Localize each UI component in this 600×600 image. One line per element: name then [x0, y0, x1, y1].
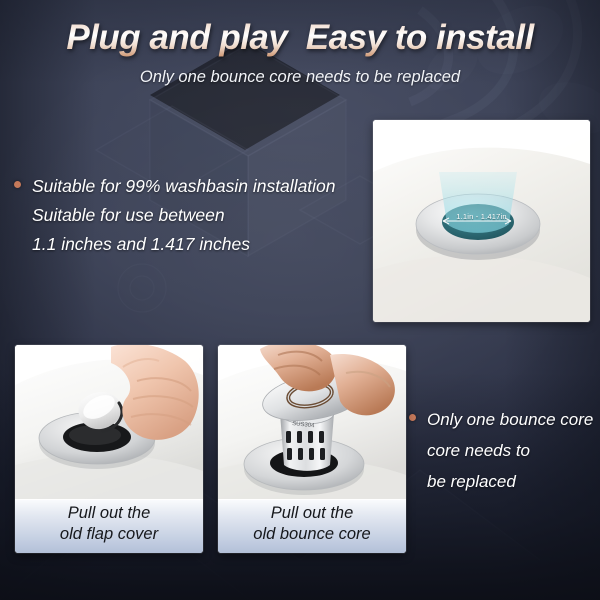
- caption-line: Pull out the: [15, 503, 203, 524]
- replacement-bullet-text: Only one bounce core core needs to be re…: [427, 404, 593, 497]
- infographic-canvas: Plug and play Easy to install Only one b…: [0, 0, 600, 600]
- pull-bounce-core-photo: SUS304 Pull out the old bounce core: [218, 345, 406, 553]
- caption-line: old bounce core: [218, 524, 406, 545]
- header: Plug and play Easy to install Only one b…: [0, 0, 600, 87]
- compatibility-bullet-text: Suitable for 99% washbasin installation …: [32, 172, 336, 259]
- caption-line: Pull out the: [218, 503, 406, 524]
- bullet-line: be replaced: [427, 466, 593, 497]
- pull-flap-cover-photo: Pull out the old flap cover: [15, 345, 203, 553]
- replacement-bullet: Only one bounce core core needs to be re…: [409, 404, 593, 497]
- washbasin-drain-photo: 1.1in - 1.417in: [373, 120, 590, 322]
- bullet-dot-icon: [14, 181, 21, 188]
- bounce-core-image: SUS304: [218, 345, 406, 503]
- page-subtitle: Only one bounce core needs to be replace…: [0, 57, 600, 87]
- flap-cover-image: [15, 345, 203, 503]
- bounce-core-caption: Pull out the old bounce core: [218, 499, 406, 553]
- caption-line: old flap cover: [15, 524, 203, 545]
- bullet-line: core needs to: [427, 435, 593, 466]
- compatibility-bullet: Suitable for 99% washbasin installation …: [14, 172, 336, 259]
- bullet-line: Suitable for use between: [32, 201, 336, 230]
- drain-measurement-label: 1.1in - 1.417in: [373, 212, 590, 221]
- flap-cover-caption: Pull out the old flap cover: [15, 499, 203, 553]
- bullet-dot-icon: [409, 414, 416, 421]
- bullet-line: 1.1 inches and 1.417 inches: [32, 230, 336, 259]
- bullet-line: Only one bounce core: [427, 404, 593, 435]
- page-title: Plug and play Easy to install: [0, 0, 600, 57]
- bullet-line: Suitable for 99% washbasin installation: [32, 172, 336, 201]
